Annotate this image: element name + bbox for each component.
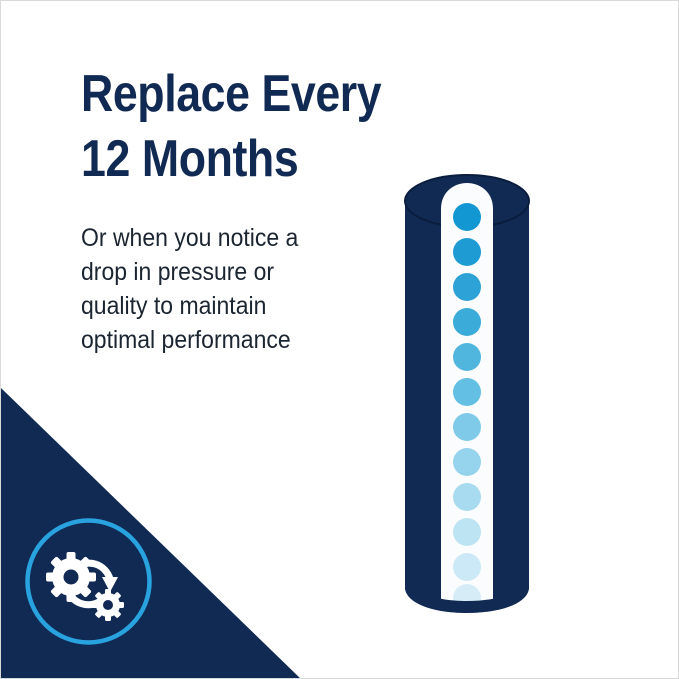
filter-dot-11 xyxy=(453,553,481,581)
filter-dot-4 xyxy=(453,308,481,336)
filter-dot-7 xyxy=(453,413,481,441)
water-filter-cartridge xyxy=(403,173,531,615)
filter-dot-6 xyxy=(453,378,481,406)
gear-small-icon xyxy=(92,589,124,621)
body-line-2: drop in pressure or xyxy=(81,255,385,289)
filter-dot-1 xyxy=(453,203,481,231)
filter-dot-3 xyxy=(453,273,481,301)
filter-dot-8 xyxy=(453,448,481,476)
text-block: Replace Every 12 Months Or when you noti… xyxy=(81,63,411,357)
headline-line-2: 12 Months xyxy=(81,128,365,191)
filter-dot-10 xyxy=(453,518,481,546)
infographic-card: Replace Every 12 Months Or when you noti… xyxy=(0,0,679,679)
filter-dot-5 xyxy=(453,343,481,371)
filter-dot-9 xyxy=(453,483,481,511)
headline-line-1: Replace Every xyxy=(81,63,365,126)
gears-refresh-badge xyxy=(23,516,154,647)
body-line-1: Or when you notice a xyxy=(81,221,385,255)
body-line-3: quality to maintain xyxy=(81,289,385,323)
gear-large-icon xyxy=(46,552,96,602)
body-line-4: optimal performance xyxy=(81,323,385,357)
filter-dot-2 xyxy=(453,238,481,266)
